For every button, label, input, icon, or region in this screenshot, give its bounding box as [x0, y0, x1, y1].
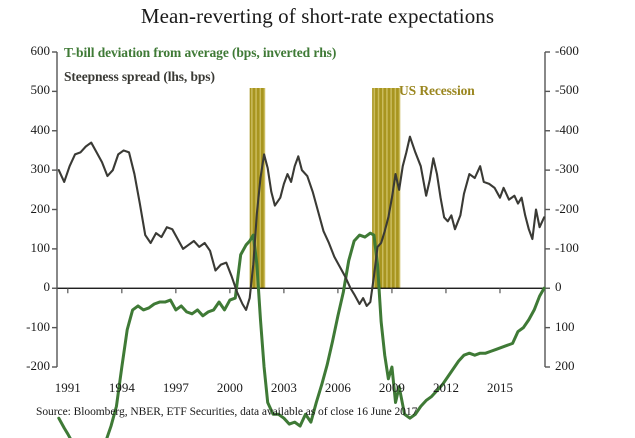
y-axis-left-tick-label: 0	[8, 279, 50, 295]
y-axis-right-tick-label: 0	[555, 279, 562, 295]
y-axis-right-tick-label: -400	[555, 122, 579, 138]
y-axis-right-tick-label: 200	[555, 358, 575, 374]
x-axis-tick-label: 2012	[433, 380, 459, 396]
y-axis-right-tick-label: -300	[555, 161, 579, 177]
source-note: Source: Bloomberg, NBER, ETF Securities,…	[36, 406, 417, 418]
series-line-steepness	[59, 137, 544, 310]
x-axis-tick-label: 1994	[109, 380, 135, 396]
y-axis-left-tick-label: 600	[8, 43, 50, 59]
x-axis-tick-label: 2009	[379, 380, 405, 396]
y-axis-right-tick-label: 100	[555, 319, 575, 335]
chart-plot-area	[0, 0, 635, 438]
x-axis-tick-label: 2000	[217, 380, 243, 396]
x-axis-tick-label: 2015	[487, 380, 513, 396]
y-axis-left-tick-label: 100	[8, 240, 50, 256]
y-axis-left-tick-label: 200	[8, 201, 50, 217]
chart-page: Mean-reverting of short-rate expectation…	[0, 0, 635, 438]
x-axis-tick-label: 1991	[55, 380, 81, 396]
y-axis-left-tick-label: -100	[8, 319, 50, 335]
y-axis-right-tick-label: -500	[555, 82, 579, 98]
y-axis-left-tick-label: 300	[8, 161, 50, 177]
y-axis-right-tick-label: -200	[555, 201, 579, 217]
y-axis-right-tick-label: -600	[555, 43, 579, 59]
x-axis-tick-label: 2003	[271, 380, 297, 396]
x-axis-tick-label: 1997	[163, 380, 189, 396]
y-axis-right-tick-label: -100	[555, 240, 579, 256]
y-axis-left-tick-label: 400	[8, 122, 50, 138]
x-axis-tick-label: 2006	[325, 380, 351, 396]
y-axis-left-tick-label: -200	[8, 358, 50, 374]
y-axis-left-tick-label: 500	[8, 82, 50, 98]
